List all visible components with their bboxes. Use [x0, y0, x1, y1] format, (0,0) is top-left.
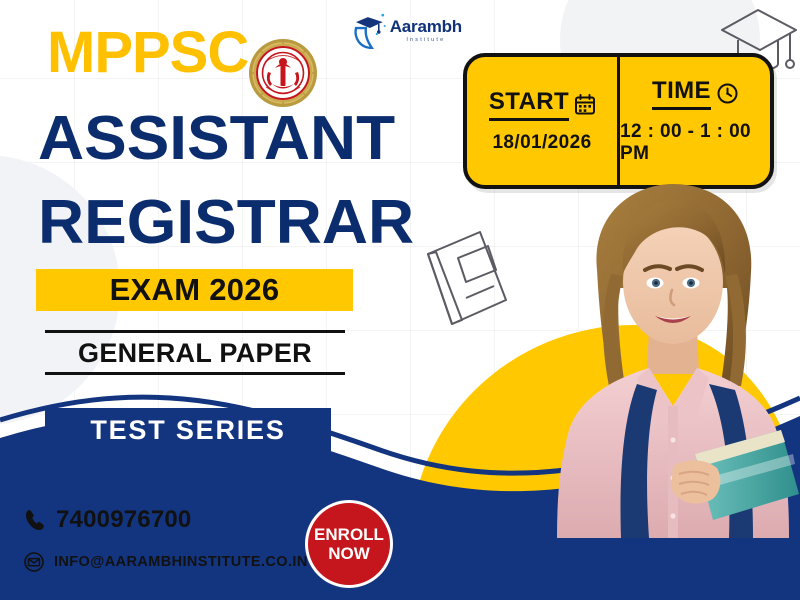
subject-banner: GENERAL PAPER: [45, 330, 345, 375]
student-photo: [545, 178, 800, 538]
aarambh-logo: Aarambh Institute: [352, 6, 462, 54]
promotional-banner: Aarambh Institute MPPSC ASSISTANT REGIST…: [0, 0, 800, 600]
phone-icon: [24, 508, 46, 532]
start-heading: START: [489, 88, 595, 121]
enroll-line2: NOW: [328, 544, 370, 563]
graduation-cap-icon: [352, 10, 388, 50]
schedule-time-column: TIME 12 : 00 - 1 : 00 PM: [620, 57, 770, 185]
schedule-start-column: START 18/01/2026: [467, 57, 620, 185]
envelope-icon: [24, 552, 44, 572]
contact-phone[interactable]: 7400976700: [24, 506, 191, 534]
logo-name: Aarambh: [390, 18, 462, 35]
email-address: INFO@AARAMBHINSTITUTE.CO.IN: [54, 554, 308, 570]
time-label: TIME: [652, 77, 711, 110]
subject-label: GENERAL PAPER: [78, 338, 312, 368]
mppsc-emblem: [248, 38, 318, 108]
start-label: START: [489, 88, 569, 121]
time-range-value: 12 : 00 - 1 : 00 PM: [620, 121, 770, 165]
start-date-value: 18/01/2026: [492, 132, 591, 154]
product-label: TEST SERIES: [90, 415, 285, 446]
phone-number: 7400976700: [56, 506, 191, 534]
logo-subtitle: Institute: [390, 37, 462, 43]
product-banner: TEST SERIES: [45, 408, 331, 452]
headline-registrar: REGISTRAR: [38, 192, 414, 254]
contact-email[interactable]: INFO@AARAMBHINSTITUTE.CO.IN: [24, 552, 308, 572]
exam-year-banner: EXAM 2026: [36, 269, 353, 311]
enroll-line1: ENROLL: [314, 525, 384, 544]
calendar-icon: [575, 94, 595, 115]
schedule-card: START 18/01/2026: [463, 53, 774, 189]
enroll-now-button[interactable]: ENROLL NOW: [305, 500, 393, 588]
headline-assistant: ASSISTANT: [38, 108, 395, 170]
time-heading: TIME: [652, 77, 738, 110]
clock-icon: [717, 83, 738, 104]
exam-year-label: EXAM 2026: [110, 272, 280, 308]
headline-mppsc: MPPSC: [47, 24, 248, 82]
